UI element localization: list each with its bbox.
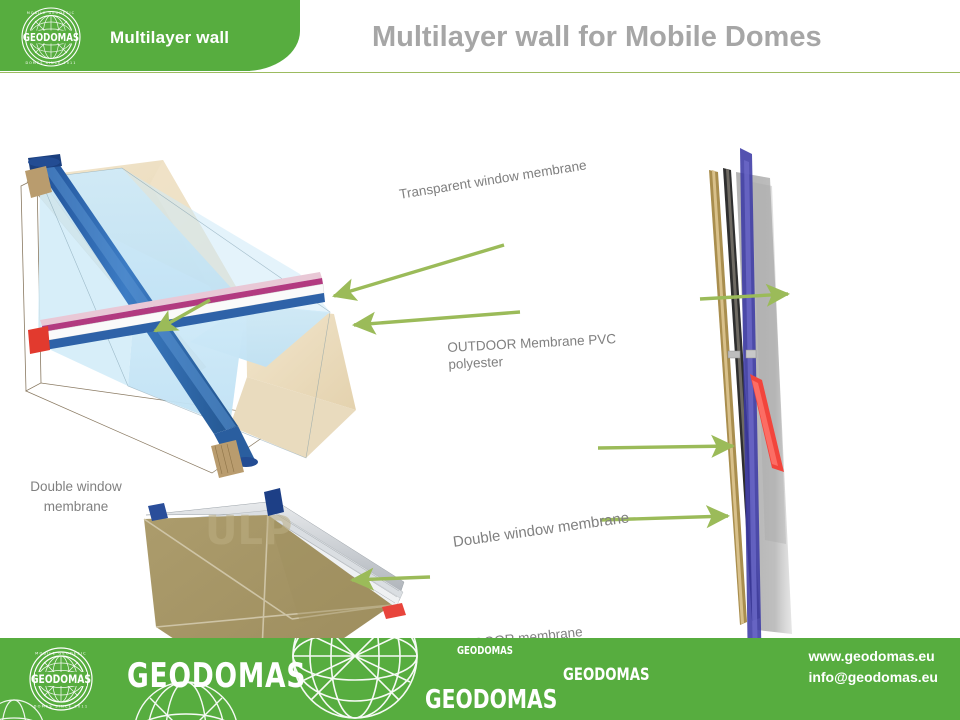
section-connector-right [746,350,756,358]
arrow-outdoor-membrane [354,312,520,325]
slide-header: GEODOMAS MOBILE GEODESIC DOMES SINCE 201… [0,0,960,74]
cross-section-assembly [709,148,792,680]
svg-text:MOBILE GEODESIC: MOBILE GEODESIC [27,11,75,15]
footer-contact-block: www.geodomas.eu info@geodomas.eu [808,646,938,688]
svg-text:DOMES SINCE 2011: DOMES SINCE 2011 [34,705,89,709]
arrow-transparent-window [334,245,504,296]
footer-watermark-small: GEODOMAS [457,644,513,657]
section-connector-left [728,351,740,358]
arrow-double-window-section [598,446,733,448]
beam-cap-top-face [28,157,60,167]
footer-watermark-large: GEODOMAS [425,685,557,715]
footer-wordmark: GEODOMAS [127,656,306,696]
header-tab-label: Multilayer wall [110,28,229,48]
upper-wall-assembly [21,154,356,478]
header-divider [0,72,960,73]
frame-outline [21,178,41,391]
panel-watermark: ULP [205,508,292,554]
svg-text:DOMES SINCE 2011: DOMES SINCE 2011 [25,61,76,65]
page-title: Multilayer wall for Mobile Domes [372,21,822,54]
svg-text:GEODOMAS: GEODOMAS [23,32,79,44]
slide-canvas: GEODOMAS MOBILE GEODESIC DOMES SINCE 201… [0,0,960,720]
panel-clip-left [148,503,168,521]
geodomas-footer-logo-icon: GEODOMAS MOBILE GEODESIC DOMES SINCE 201… [20,646,102,712]
svg-text:MOBILE GEODESIC: MOBILE GEODESIC [35,652,87,656]
diagram-stage: ULP [0,74,960,638]
svg-text:GEODOMAS: GEODOMAS [31,673,91,686]
strut-red-endcap [28,326,50,354]
footer-email[interactable]: info@geodomas.eu [808,667,938,688]
callout-double-window-left: Double window membrane [30,477,122,517]
footer-watermark-medium: GEODOMAS [563,665,650,685]
geodomas-logo-icon: GEODOMAS MOBILE GEODESIC DOMES SINCE 201… [12,6,90,68]
footer-website[interactable]: www.geodomas.eu [808,646,938,667]
